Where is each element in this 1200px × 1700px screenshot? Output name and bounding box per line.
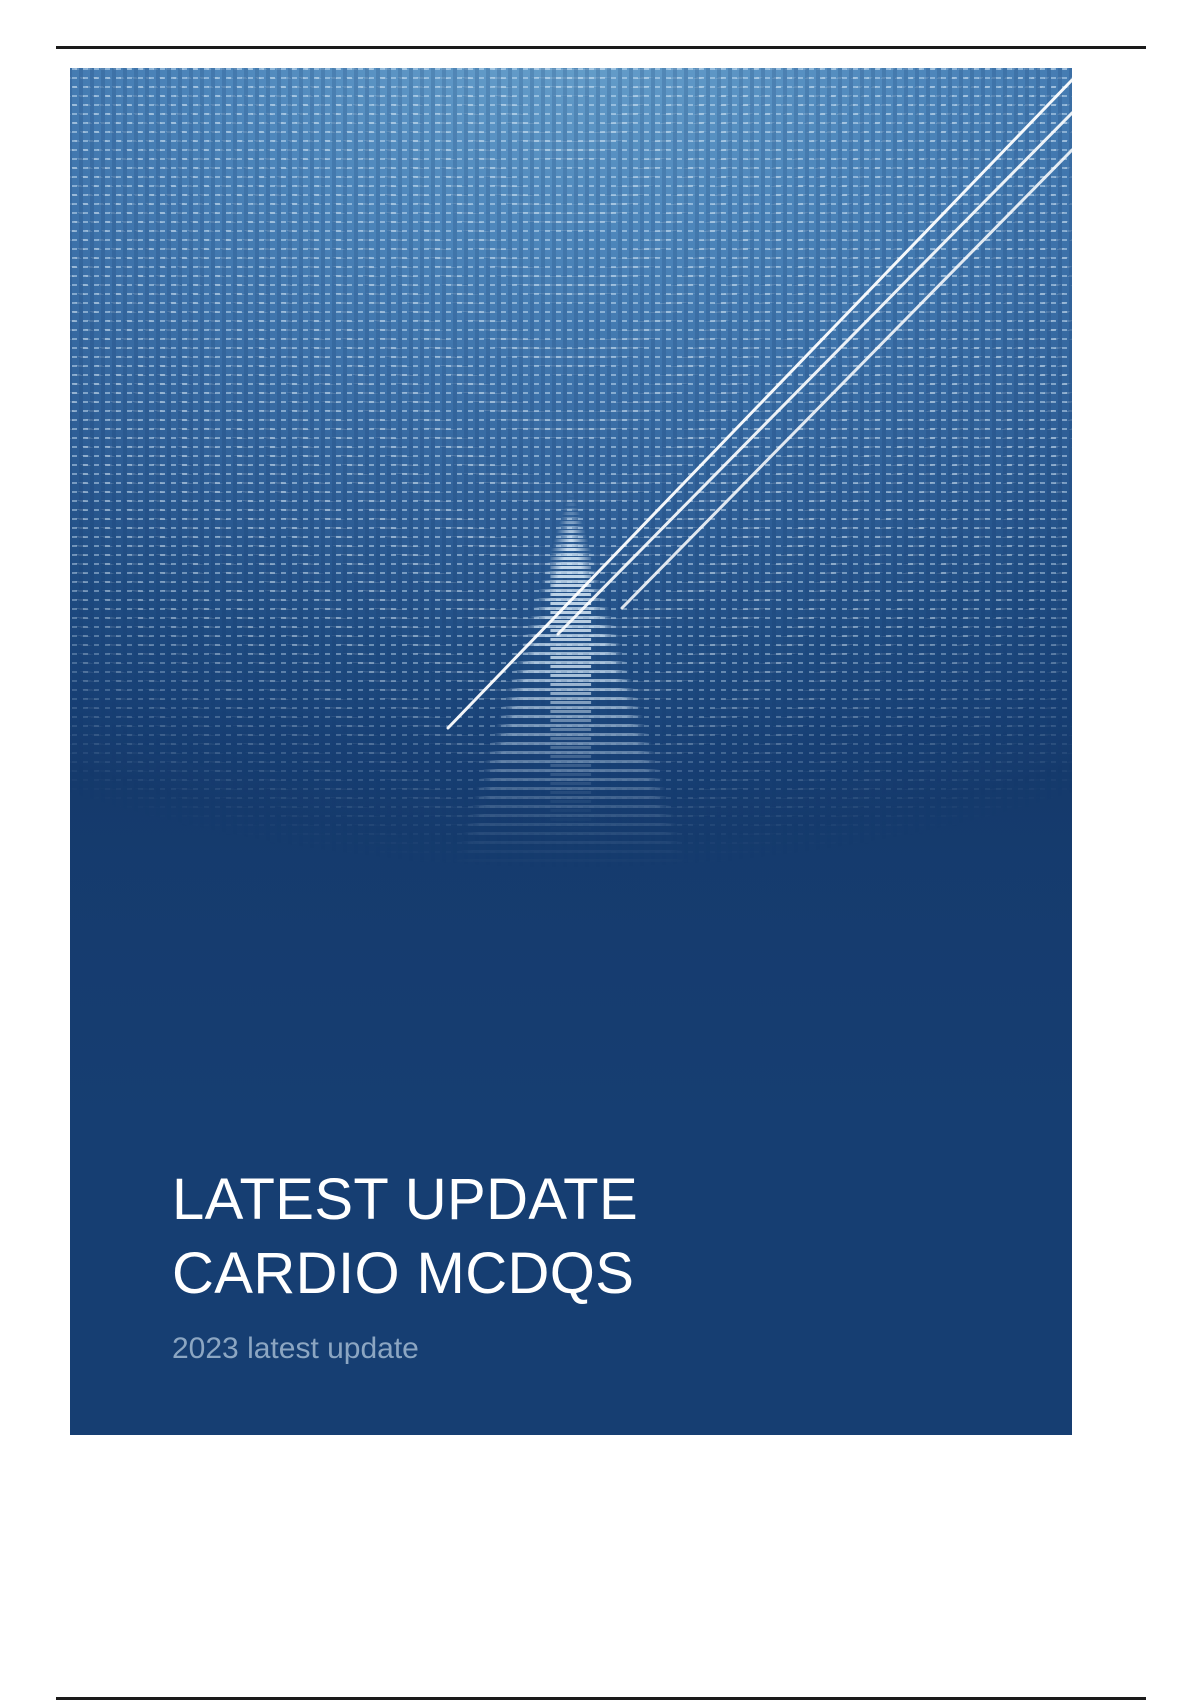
dash-fan-layer [70,68,1072,970]
streak-line-1 [448,80,1072,728]
cover-text-block: LATEST UPDATE CARDIO MCDQS 2023 latest u… [172,1163,932,1367]
cover-title: LATEST UPDATE CARDIO MCDQS [172,1163,772,1311]
document-page: { "document": { "type": "cover-page", "p… [0,0,1200,1700]
chevron-inner-pattern [551,364,592,884]
cover-panel: LATEST UPDATE CARDIO MCDQS 2023 latest u… [70,68,1072,1435]
cover-subtitle: 2023 latest update [172,1331,932,1367]
dash-grid-layer [70,68,1072,970]
halftone-dash-pattern [70,68,1072,970]
streak-line-3 [622,150,1072,608]
streak-line-2 [558,113,1072,634]
chevron-pattern [436,104,707,970]
page-top-rule [56,46,1146,49]
dash-column-layer [70,68,1072,970]
